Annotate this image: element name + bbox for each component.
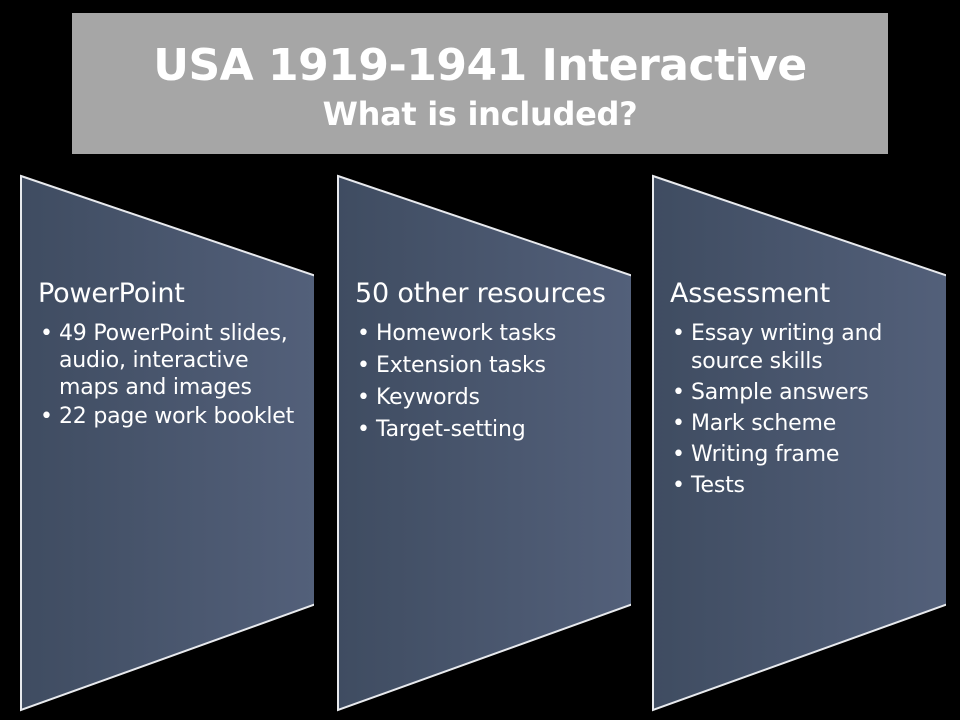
- column-heading: 50 other resources: [355, 278, 617, 310]
- list-item: •Mark scheme: [670, 410, 938, 438]
- bullet-icon: •: [357, 416, 370, 443]
- list-item: •Keywords: [355, 384, 617, 412]
- bullet-icon: •: [357, 320, 370, 347]
- list-item-label: Sample answers: [691, 380, 869, 405]
- list-item: •Target-setting: [355, 416, 617, 444]
- column-bullet-list: •Essay writing and source skills •Sample…: [670, 320, 938, 500]
- list-item: •Writing frame: [670, 441, 938, 469]
- slide-canvas: USA 1919-1941 Interactive What is includ…: [0, 0, 960, 720]
- bullet-icon: •: [672, 379, 685, 406]
- list-item: •49 PowerPoint slides, audio, interactiv…: [38, 320, 300, 401]
- bullet-icon: •: [672, 320, 685, 347]
- bullet-icon: •: [672, 410, 685, 437]
- list-item-label: Mark scheme: [691, 411, 836, 436]
- chevron-column-powerpoint[interactable]: PowerPoint •49 PowerPoint slides, audio,…: [14, 170, 314, 718]
- list-item-label: 22 page work booklet: [59, 404, 294, 429]
- bullet-icon: •: [672, 472, 685, 499]
- column-bullet-list: •Homework tasks •Extension tasks •Keywor…: [355, 320, 617, 444]
- list-item: •Tests: [670, 472, 938, 500]
- list-item: •Homework tasks: [355, 320, 617, 348]
- column-heading: PowerPoint: [38, 278, 300, 310]
- chevron-content: Assessment •Essay writing and source ski…: [670, 278, 938, 503]
- bullet-icon: •: [672, 441, 685, 468]
- list-item: •Extension tasks: [355, 352, 617, 380]
- list-item: •Sample answers: [670, 379, 938, 407]
- list-item-label: 49 PowerPoint slides, audio, interactive…: [59, 321, 288, 400]
- list-item-label: Homework tasks: [376, 321, 556, 346]
- chevron-column-resources[interactable]: 50 other resources •Homework tasks •Exte…: [331, 170, 631, 718]
- list-item-label: Essay writing and source skills: [691, 321, 882, 374]
- page-subtitle: What is included?: [323, 94, 638, 134]
- list-item-label: Tests: [691, 473, 745, 498]
- bullet-icon: •: [357, 384, 370, 411]
- list-item: •Essay writing and source skills: [670, 320, 938, 376]
- list-item-label: Writing frame: [691, 442, 839, 467]
- title-banner: USA 1919-1941 Interactive What is includ…: [72, 13, 888, 154]
- list-item: •22 page work booklet: [38, 403, 300, 430]
- list-item-label: Target-setting: [376, 417, 525, 442]
- chevron-content: PowerPoint •49 PowerPoint slides, audio,…: [38, 278, 300, 432]
- column-heading: Assessment: [670, 278, 938, 310]
- chevron-shape-icon: [14, 170, 314, 718]
- bullet-icon: •: [357, 352, 370, 379]
- column-bullet-list: •49 PowerPoint slides, audio, interactiv…: [38, 320, 300, 430]
- chevron-content: 50 other resources •Homework tasks •Exte…: [355, 278, 617, 448]
- list-item-label: Extension tasks: [376, 353, 546, 378]
- bullet-icon: •: [40, 403, 53, 430]
- chevron-column-assessment[interactable]: Assessment •Essay writing and source ski…: [646, 170, 946, 718]
- page-title: USA 1919-1941 Interactive: [153, 40, 806, 92]
- bullet-icon: •: [40, 320, 53, 347]
- list-item-label: Keywords: [376, 385, 480, 410]
